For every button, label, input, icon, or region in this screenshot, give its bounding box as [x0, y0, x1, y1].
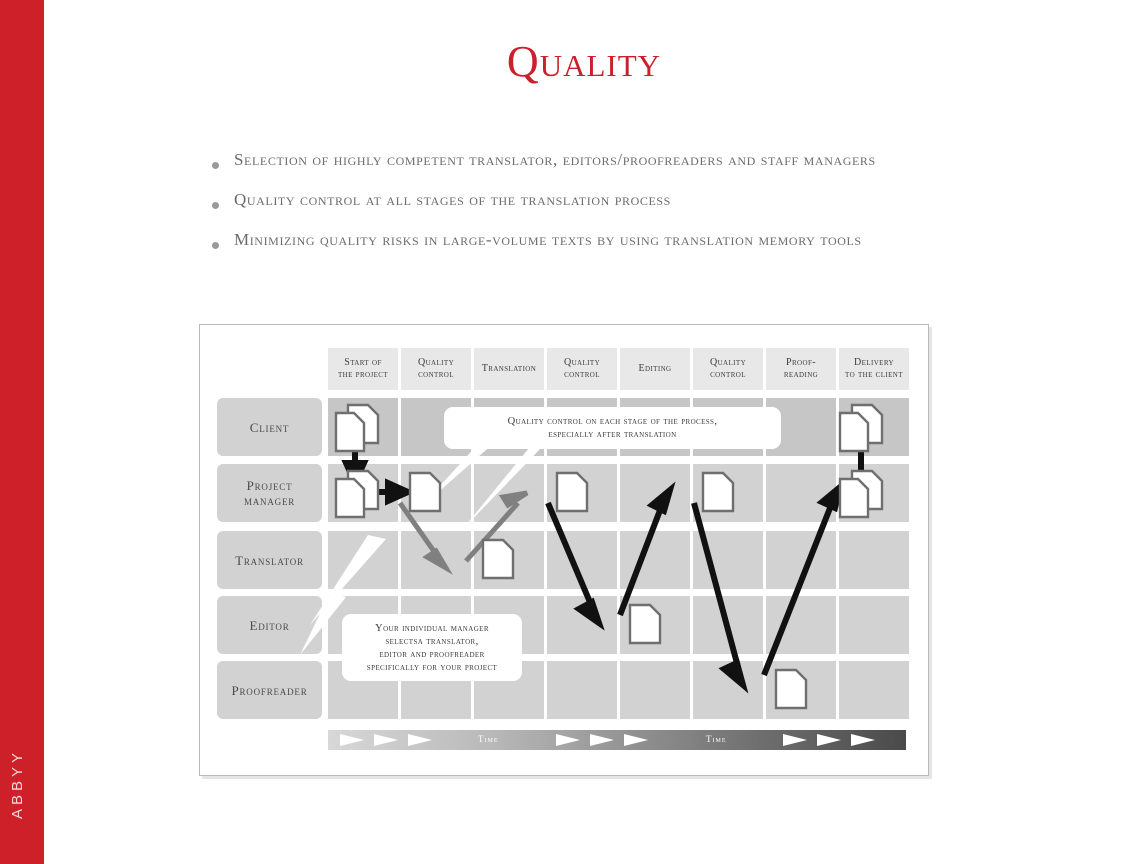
doc-proofreader — [776, 670, 806, 708]
bullet-text: Minimizing quality risks in large-volume… — [234, 230, 862, 249]
doc-pm-start — [336, 471, 378, 517]
callout-tail-2b — [300, 593, 346, 655]
doc-pm-qc2 — [557, 473, 587, 511]
bullet-list: Selection of highly competent translator… — [208, 150, 928, 270]
doc-editor — [630, 605, 660, 643]
bullet-dot-icon — [212, 162, 219, 169]
bullet-text: Selection of highly competent translator… — [234, 150, 876, 169]
process-diagram-frame: Start of the project Quality control Tra… — [199, 324, 929, 776]
doc-pm-delivery — [840, 471, 882, 517]
timeline-arrows — [328, 730, 906, 750]
bullet-dot-icon — [212, 202, 219, 209]
doc-pm-qc1 — [410, 473, 440, 511]
doc-client-delivery — [840, 405, 882, 451]
list-item: Minimizing quality risks in large-volume… — [208, 230, 928, 250]
timeline-bar: Time Time — [328, 730, 906, 750]
callout-quality-control: Quality control on each stage of the pro… — [444, 407, 781, 449]
brand-sidebar: ABBYY — [0, 0, 44, 864]
callout-individual-manager: Your individual manager selectsa transla… — [342, 614, 522, 681]
timeline-label-left: Time — [478, 734, 499, 744]
doc-translator — [483, 540, 513, 578]
bullet-dot-icon — [212, 242, 219, 249]
doc-client-start — [336, 405, 378, 451]
process-diagram: Start of the project Quality control Tra… — [200, 325, 928, 775]
bullet-text: Quality control at all stages of the tra… — [234, 190, 671, 209]
flow-overlay — [200, 325, 928, 775]
brand-label: ABBYY — [6, 732, 30, 836]
list-item: Selection of highly competent translator… — [208, 150, 928, 170]
timeline-label-right: Time — [706, 734, 727, 744]
doc-pm-qc3 — [703, 473, 733, 511]
page-title: Quality — [44, 36, 1124, 87]
list-item: Quality control at all stages of the tra… — [208, 190, 928, 210]
